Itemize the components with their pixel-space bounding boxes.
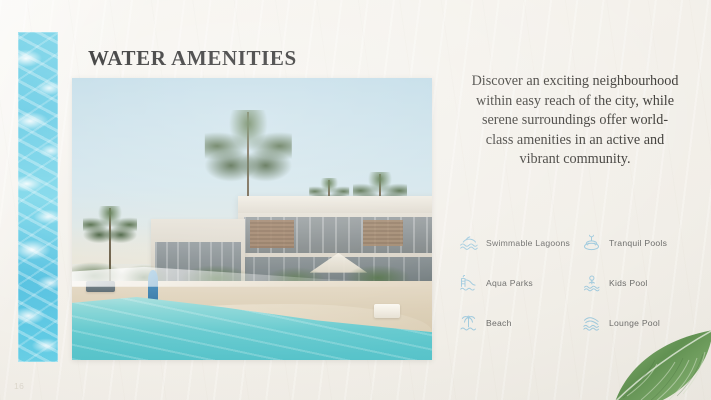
wave-lagoon-icon bbox=[458, 232, 479, 253]
presentation-slide: WATER AMENITIES bbox=[0, 0, 711, 400]
sun-lounger bbox=[374, 304, 399, 318]
amenity-item-aqua-parks: Aqua Parks bbox=[458, 272, 573, 293]
lede-paragraph: Discover an exciting neighbourhood withi… bbox=[470, 72, 680, 170]
tropical-leaf-icon bbox=[597, 324, 711, 400]
amenities-grid: Swimmable Lagoons Tranquil Pools bbox=[458, 232, 696, 333]
fountain-pool-icon bbox=[581, 232, 602, 253]
page-title: WATER AMENITIES bbox=[88, 46, 297, 71]
amenity-label: Swimmable Lagoons bbox=[486, 238, 570, 248]
amenity-label: Tranquil Pools bbox=[609, 238, 667, 248]
page-number: 16 bbox=[14, 381, 24, 391]
child-swimmer-icon bbox=[581, 272, 602, 293]
amenity-item-tranquil-pools: Tranquil Pools bbox=[581, 232, 696, 253]
amenity-label: Kids Pool bbox=[609, 278, 648, 288]
palm-beach-icon bbox=[458, 312, 479, 333]
amenity-item-swimmable-lagoons: Swimmable Lagoons bbox=[458, 232, 573, 253]
pool-water-strip bbox=[18, 32, 58, 362]
amenity-item-beach: Beach bbox=[458, 312, 573, 333]
hero-photo bbox=[72, 78, 432, 360]
amenity-label: Beach bbox=[486, 318, 512, 328]
water-slide-icon bbox=[458, 272, 479, 293]
amenity-item-kids-pool: Kids Pool bbox=[581, 272, 696, 293]
amenity-label: Aqua Parks bbox=[486, 278, 533, 288]
